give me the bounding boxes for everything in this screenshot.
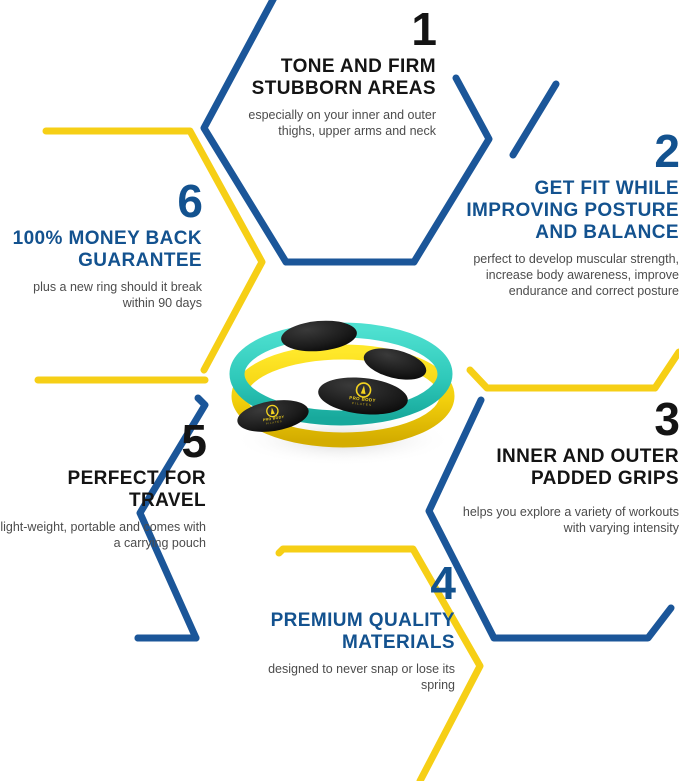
- feature-block-4: 4 PREMIUM QUALITY MATERIALS designed to …: [240, 560, 455, 693]
- feature-number-4: 4: [240, 560, 455, 606]
- feature-number-3: 3: [460, 396, 679, 442]
- feature-body-2: perfect to develop muscular strength, in…: [466, 251, 679, 299]
- feature-block-5: 5 PERFECT FOR TRAVEL light-weight, porta…: [0, 418, 206, 551]
- feature-number-5: 5: [0, 418, 206, 464]
- feature-body-1: especially on your inner and outer thigh…: [228, 107, 436, 139]
- feature-block-1: 1 TONE AND FIRM STUBBORN AREAS especiall…: [228, 6, 436, 139]
- feature-block-3: 3 INNER AND OUTER PADDED GRIPS helps you…: [460, 396, 679, 536]
- feature-heading-5: PERFECT FOR TRAVEL: [0, 468, 206, 512]
- feature-heading-2: GET FIT WHILE IMPROVING POSTURE AND BALA…: [466, 178, 679, 244]
- product-image: PRO BODY PILATES PRO BODY PILATES: [215, 312, 470, 472]
- feature-number-1: 1: [228, 6, 436, 52]
- feature-heading-1: TONE AND FIRM STUBBORN AREAS: [228, 56, 436, 100]
- feature-heading-3: INNER AND OUTER PADDED GRIPS: [460, 446, 679, 490]
- feature-number-2: 2: [466, 128, 679, 174]
- feature-number-6: 6: [2, 178, 202, 224]
- feature-body-4: designed to never snap or lose its sprin…: [240, 661, 455, 693]
- infographic-canvas: PRO BODY PILATES PRO BODY PILATES 1 TONE…: [0, 0, 679, 781]
- feature-body-6: plus a new ring should it break within 9…: [2, 279, 202, 311]
- feature-block-6: 6 100% MONEY BACK GUARANTEE plus a new r…: [2, 178, 202, 311]
- feature-heading-6: 100% MONEY BACK GUARANTEE: [2, 228, 202, 272]
- feature-body-5: light-weight, portable and comes with a …: [0, 519, 206, 551]
- feature-body-3: helps you explore a variety of workouts …: [460, 504, 679, 536]
- feature-heading-4: PREMIUM QUALITY MATERIALS: [240, 610, 455, 654]
- feature-block-2: 2 GET FIT WHILE IMPROVING POSTURE AND BA…: [466, 128, 679, 299]
- hex-line-center-right-yellow: [470, 352, 679, 388]
